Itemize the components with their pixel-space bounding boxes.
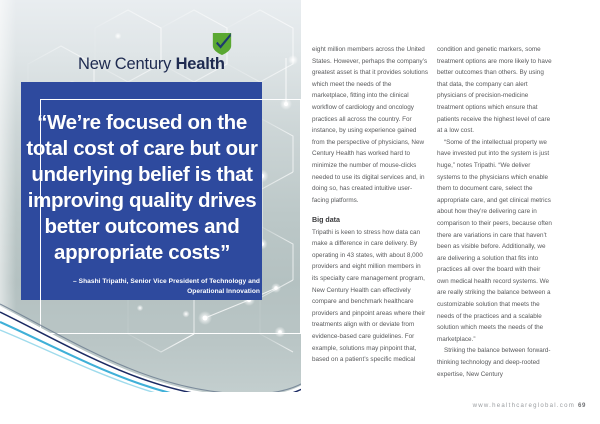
column1-paragraph-1: eight million members across the United …	[312, 44, 428, 206]
pull-quote-text: “We’re focused on the total cost of care…	[24, 110, 260, 266]
magazine-spread: New Century Health “We’re focused on the…	[0, 0, 600, 424]
logo-word-bold: Health	[176, 55, 225, 73]
column2-paragraph-1: condition and genetic markers, some trea…	[437, 44, 553, 137]
footer-right: www.healthcareglobal.com 69	[473, 402, 586, 409]
article-column-2: condition and genetic markers, some trea…	[437, 44, 553, 380]
logo-wordmark: New Century Health	[78, 55, 238, 74]
column1-paragraph-2: Tripathi is keen to stress how data can …	[312, 227, 428, 366]
column2-paragraph-3: Striking the balance between forward-thi…	[437, 345, 553, 380]
pull-quote-attribution: – Shashi Tripathi, Senior Vice President…	[60, 277, 260, 297]
right-page-number: 69	[578, 402, 586, 409]
section-heading-big-data: Big data	[312, 215, 428, 226]
swoosh-decoration	[0, 300, 301, 392]
article-column-1: eight million members across the United …	[312, 44, 428, 366]
left-page-image-panel: New Century Health “We’re focused on the…	[0, 0, 301, 392]
website-url: www.healthcareglobal.com	[473, 402, 576, 409]
new-century-health-logo: New Century Health	[78, 32, 228, 76]
shield-check-icon	[211, 32, 233, 56]
right-page-text: eight million members across the United …	[301, 0, 600, 424]
logo-word-light: New Century	[78, 55, 176, 73]
column2-paragraph-2: “Some of the intellectual property we ha…	[437, 137, 553, 346]
